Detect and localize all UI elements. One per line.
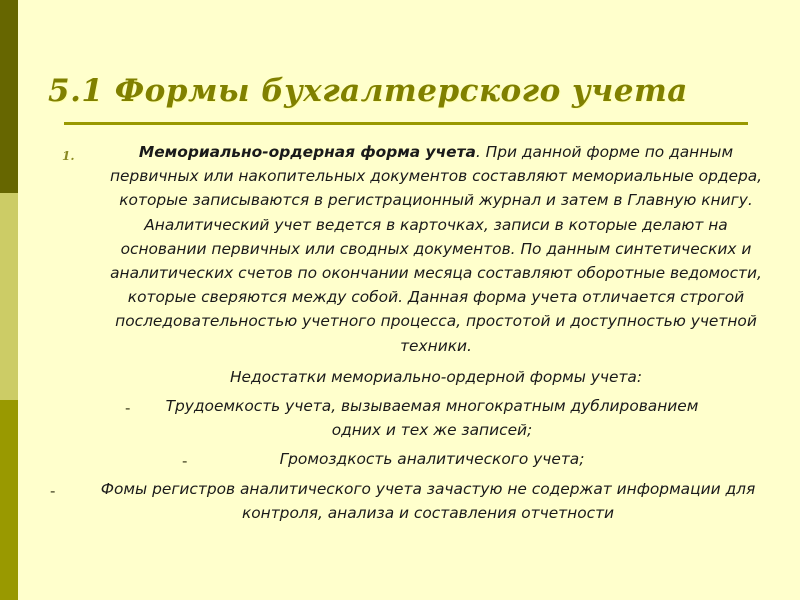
list-number-marker: 1.: [62, 144, 75, 168]
dash-bullet-icon: -: [50, 479, 55, 503]
slide-canvas: 5.1 Формы бухгалтерского учета 1.Мемориа…: [0, 0, 800, 600]
dash-bullet-icon: -: [125, 396, 130, 420]
numbered-list-item: 1.Мемориально-ордерная форма учета. При …: [22, 140, 782, 358]
sidebar-band-mid-olive: [0, 400, 18, 600]
dash-bullet-text: Громоздкость аналитического учета;: [280, 450, 585, 468]
term-definition: . При данной форме по данным первичных и…: [110, 143, 762, 355]
disadvantages-heading: Недостатки мемориально-ордерной формы уч…: [22, 365, 782, 389]
dash-bullet-icon: -: [182, 449, 187, 473]
title-underline-rule: [64, 122, 748, 125]
term-lead-in: Мемориально-ордерная форма учета: [139, 143, 476, 161]
sidebar-band-dark-olive: [0, 0, 18, 193]
dash-bullet-item: -Громоздкость аналитического учета;: [22, 447, 782, 471]
sidebar-band-light-olive: [0, 193, 18, 400]
dash-bullet-item: -Фомы регистров аналитического учета зач…: [22, 477, 782, 525]
slide-title: 5.1 Формы бухгалтерского учета: [48, 72, 748, 110]
dash-bullet-item: -Трудоемкость учета, вызываемая многокра…: [22, 394, 782, 442]
dash-bullet-text: Трудоемкость учета, вызываемая многократ…: [166, 397, 699, 439]
slide-body: 1.Мемориально-ордерная форма учета. При …: [22, 140, 782, 560]
dash-bullet-text: Фомы регистров аналитического учета зача…: [101, 480, 755, 522]
